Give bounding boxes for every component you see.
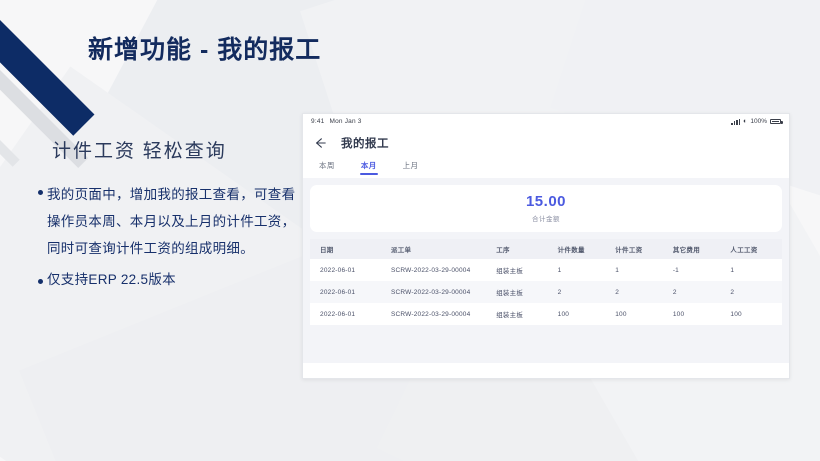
cell-process: 组装主板: [488, 309, 549, 319]
cell-piece-wage: 1: [607, 267, 665, 274]
column-header-process: 工序: [488, 244, 549, 254]
wifi-icon: ◐: [743, 118, 747, 125]
bullet-item: 仅支持ERP 22.5版本: [38, 270, 303, 290]
cell-other-fee: -1: [665, 267, 723, 274]
tab-bar: 本周 本月 上月: [303, 156, 789, 178]
signal-bars-icon: [731, 119, 740, 125]
cell-date: 2022-06-01: [312, 289, 383, 296]
bullet-item: 我的页面中，增加我的报工查看，可查看操作员本周、本月以及上月的计件工资，同时可查…: [38, 181, 303, 262]
report-table: 日期 派工单 工序 计件数量 计件工资 其它费用 人工工资 2022-06-01…: [310, 239, 782, 325]
cell-order: SCRW-2022-03-29-00004: [383, 267, 488, 274]
summary-card: 15.00 合计金额: [310, 185, 782, 232]
table-row[interactable]: 2022-06-01 SCRW-2022-03-29-00004 组装主板 10…: [310, 303, 782, 325]
status-date: Mon Jan 3: [329, 118, 361, 125]
cell-order: SCRW-2022-03-29-00004: [383, 311, 488, 318]
total-amount-value: 15.00: [526, 194, 566, 211]
table-empty-space: [310, 325, 782, 363]
bullet-dot-icon: [38, 279, 43, 284]
table-body: 2022-06-01 SCRW-2022-03-29-00004 组装主板 1 …: [310, 259, 782, 325]
cell-piece-wage: 100: [607, 311, 665, 318]
column-header-piece-wage: 计件工资: [607, 244, 665, 254]
app-screenshot-mockup: 9:41 Mon Jan 3 ◐ 100% 我的报工 本周 本月 上月 15.0…: [302, 113, 790, 379]
cell-qty: 2: [550, 289, 608, 296]
cell-process: 组装主板: [488, 287, 549, 297]
column-header-date: 日期: [312, 244, 383, 254]
cell-labor-wage: 2: [722, 289, 780, 296]
column-header-other-fee: 其它费用: [665, 244, 723, 254]
cell-qty: 100: [550, 311, 608, 318]
page-title: 新增功能 - 我的报工: [88, 30, 321, 66]
column-header-qty: 计件数量: [550, 244, 608, 254]
cell-qty: 1: [550, 267, 608, 274]
cell-labor-wage: 100: [722, 311, 780, 318]
table-row[interactable]: 2022-06-01 SCRW-2022-03-29-00004 组装主板 1 …: [310, 259, 782, 281]
app-title: 我的报工: [341, 135, 389, 151]
status-time: 9:41: [311, 118, 324, 125]
table-header-row: 日期 派工单 工序 计件数量 计件工资 其它费用 人工工资: [310, 239, 782, 259]
cell-other-fee: 2: [665, 289, 723, 296]
bullet-dot-icon: [38, 190, 43, 195]
cell-piece-wage: 2: [607, 289, 665, 296]
bullet-text: 我的页面中，增加我的报工查看，可查看操作员本周、本月以及上月的计件工资，同时可查…: [47, 181, 303, 262]
column-header-order: 派工单: [383, 244, 488, 254]
back-arrow-icon[interactable]: [313, 136, 327, 150]
cell-order: SCRW-2022-03-29-00004: [383, 289, 488, 296]
tab-this-week[interactable]: 本周: [319, 160, 335, 175]
cell-process: 组装主板: [488, 265, 549, 275]
status-bar: 9:41 Mon Jan 3 ◐ 100%: [303, 114, 789, 129]
tab-last-month[interactable]: 上月: [403, 160, 419, 175]
cell-labor-wage: 1: [722, 267, 780, 274]
app-bar: 我的报工: [303, 129, 789, 156]
total-amount-label: 合计金额: [532, 213, 560, 223]
bullet-text: 仅支持ERP 22.5版本: [47, 270, 176, 290]
battery-icon: [770, 119, 781, 125]
subheading: 计件工资 轻松查询: [52, 136, 303, 163]
content-area: 15.00 合计金额 日期 派工单 工序 计件数量 计件工资 其它费用 人工工资…: [303, 178, 789, 363]
battery-percent-label: 100%: [750, 118, 767, 125]
table-row[interactable]: 2022-06-01 SCRW-2022-03-29-00004 组装主板 2 …: [310, 281, 782, 303]
status-bar-right: ◐ 100%: [731, 118, 781, 125]
cell-date: 2022-06-01: [312, 267, 383, 274]
column-header-labor-wage: 人工工资: [722, 244, 780, 254]
cell-other-fee: 100: [665, 311, 723, 318]
cell-date: 2022-06-01: [312, 311, 383, 318]
tab-this-month[interactable]: 本月: [361, 160, 377, 175]
status-bar-left: 9:41 Mon Jan 3: [311, 118, 362, 125]
left-content-column: 计件工资 轻松查询 我的页面中，增加我的报工查看，可查看操作员本周、本月以及上月…: [38, 136, 303, 296]
